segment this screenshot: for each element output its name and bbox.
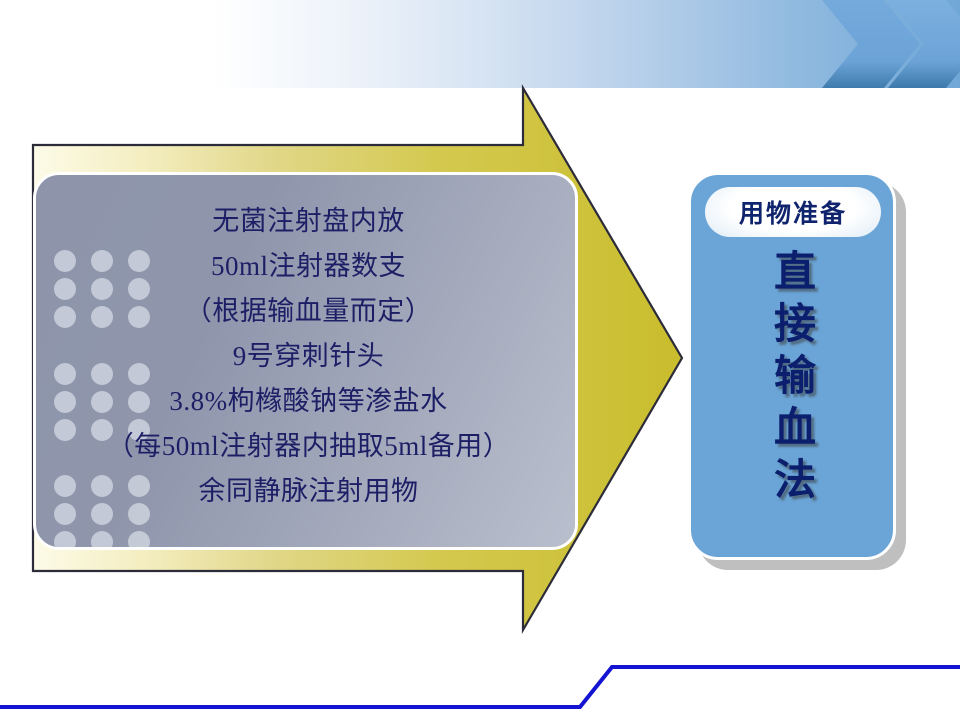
content-box: 无菌注射盘内放 50ml注射器数支 （根据输血量而定） 9号穿刺针头 3.8%枸… (33, 172, 578, 550)
title-char: 法 (691, 455, 899, 507)
side-panel: 用物准备 直 接 输 血 法 (688, 172, 896, 560)
content-line: 余同静脉注射用物 (36, 469, 578, 514)
page-title: 直 接 输 血 法 (691, 247, 899, 507)
slide-canvas: 无菌注射盘内放 50ml注射器数支 （根据输血量而定） 9号穿刺针头 3.8%枸… (0, 0, 960, 720)
top-banner (0, 0, 960, 88)
status-badge-label: 用物准备 (739, 194, 847, 230)
content-body: 无菌注射盘内放 50ml注射器数支 （根据输血量而定） 9号穿刺针头 3.8%枸… (36, 199, 578, 514)
content-line: 9号穿刺针头 (36, 334, 578, 379)
content-line: 无菌注射盘内放 (36, 199, 578, 244)
content-line: （根据输血量而定） (36, 289, 578, 334)
chevron-right-icon (822, 0, 960, 92)
title-char: 输 (691, 351, 899, 403)
content-line: 50ml注射器数支 (36, 244, 578, 289)
footer-rule (0, 640, 960, 720)
content-line: （每50ml注射器内抽取5ml备用） (36, 424, 578, 469)
title-char: 接 (691, 299, 899, 351)
status-badge: 用物准备 (705, 187, 881, 237)
content-line: 3.8%枸橼酸钠等渗盐水 (36, 379, 578, 424)
title-char: 直 (691, 247, 899, 299)
title-char: 血 (691, 403, 899, 455)
